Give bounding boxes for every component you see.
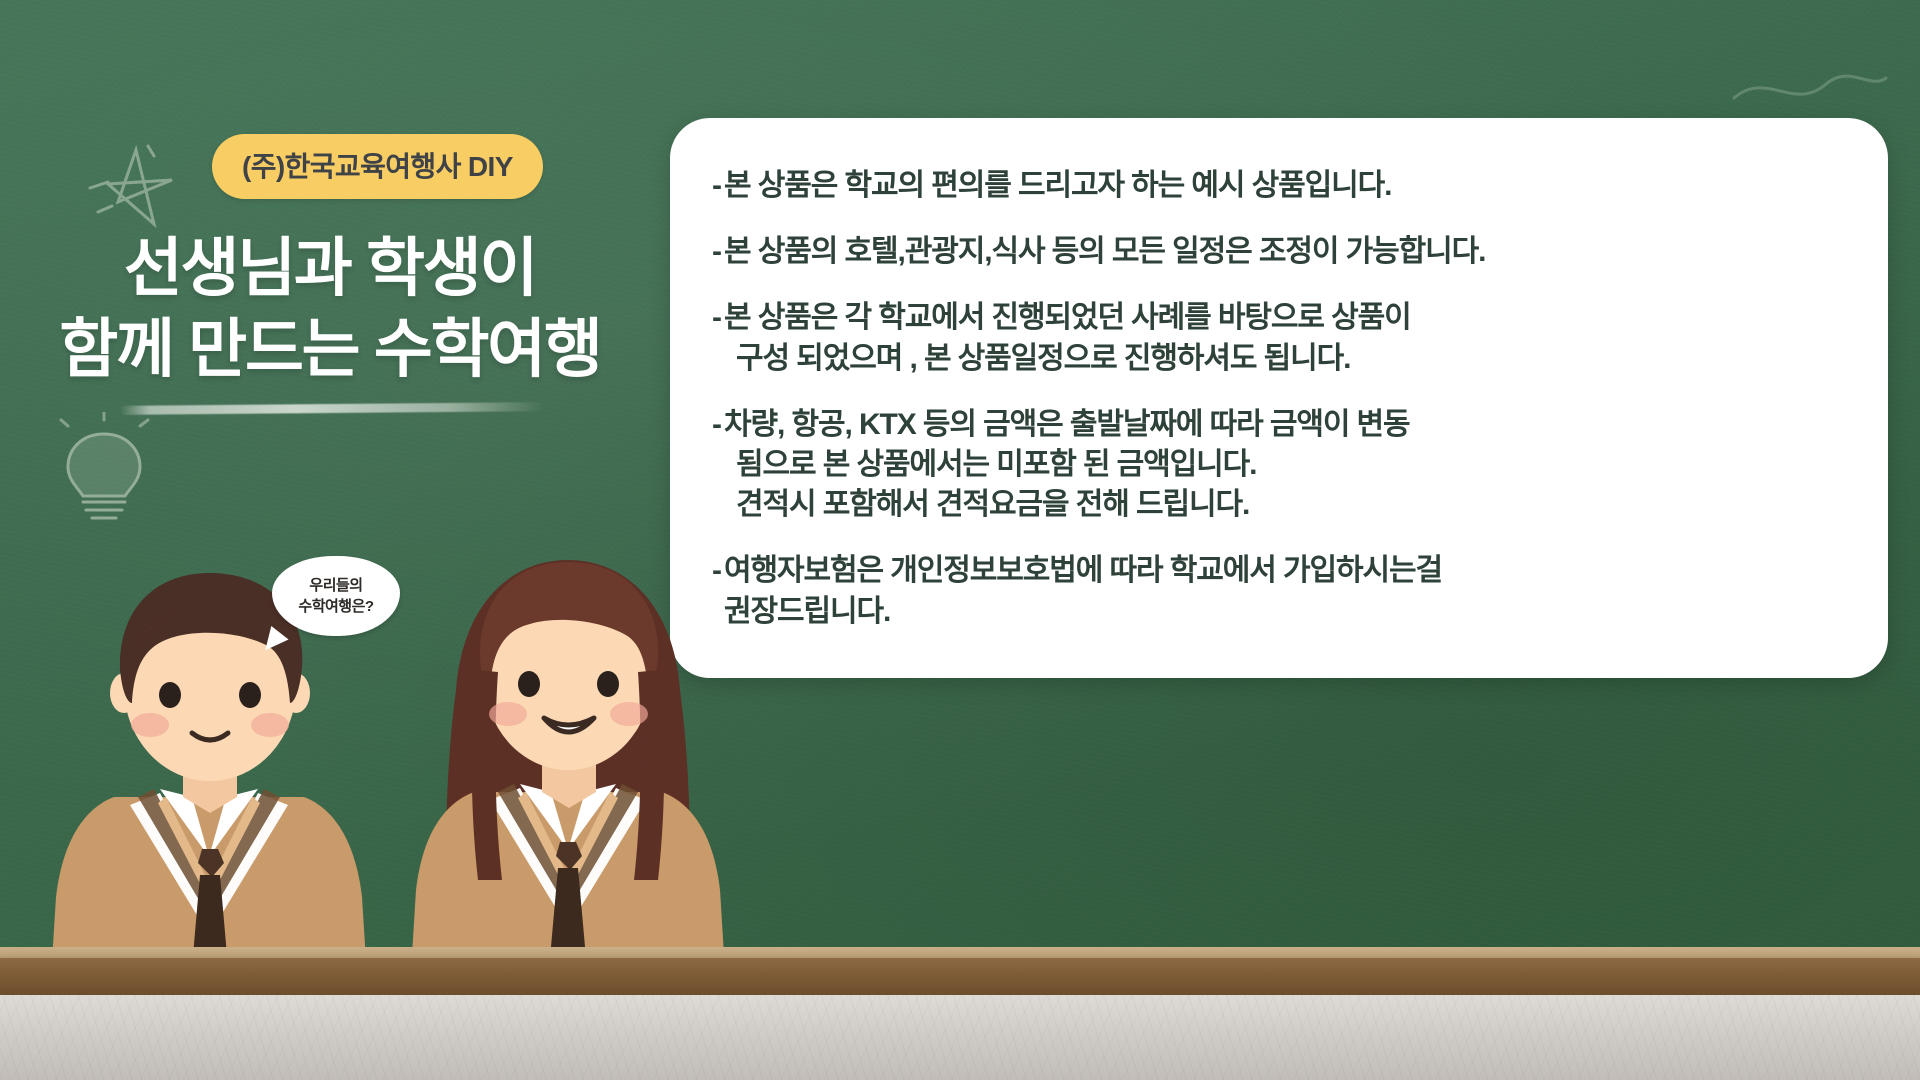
- note-marker: -: [712, 232, 722, 272]
- note-item: - 여행자보험은 개인정보보호법에 따라 학교에서 가입하시는걸 권장드립니다.: [712, 551, 1844, 631]
- speech-bubble-line-1: 우리들의: [309, 575, 362, 596]
- note-line: 구성 되었으며 , 본 상품일정으로 진행하셔도 됩니다.: [724, 339, 1844, 379]
- note-body: 차량, 항공, KTX 등의 금액은 출발날짜에 따라 금액이 변동 됨으로 본…: [724, 405, 1844, 526]
- note-item: - 본 상품은 각 학교에서 진행되었던 사례를 바탕으로 상품이 구성 되었으…: [712, 298, 1844, 378]
- note-body: 본 상품의 호텔,관광지,식사 등의 모든 일정은 조정이 가능합니다.: [724, 232, 1844, 272]
- speech-bubble: 우리들의 수학여행은?: [272, 556, 400, 636]
- note-line: 견적시 포함해서 견적요금을 전해 드립니다.: [724, 485, 1844, 525]
- page-title: 선생님과 학생이 함께 만드는 수학여행: [0, 228, 660, 389]
- note-marker: -: [712, 166, 722, 206]
- notes-card: - 본 상품은 학교의 편의를 드리고자 하는 예시 상품입니다. - 본 상품…: [670, 118, 1888, 678]
- note-body: 여행자보험은 개인정보보호법에 따라 학교에서 가입하시는걸 권장드립니다.: [724, 551, 1844, 631]
- note-item: - 본 상품의 호텔,관광지,식사 등의 모든 일정은 조정이 가능합니다.: [712, 232, 1844, 272]
- note-line: 차량, 항공, KTX 등의 금액은 출발날짜에 따라 금액이 변동: [724, 405, 1844, 445]
- note-line: 됨으로 본 상품에서는 미포함 된 금액입니다.: [724, 445, 1844, 485]
- note-item: - 본 상품은 학교의 편의를 드리고자 하는 예시 상품입니다.: [712, 166, 1844, 206]
- speech-bubble-line-2: 수학여행은?: [298, 596, 373, 617]
- note-line: 여행자보험은 개인정보보호법에 따라 학교에서 가입하시는걸: [724, 551, 1844, 591]
- classroom-floor: [0, 995, 1920, 1080]
- note-line: 본 상품은 각 학교에서 진행되었던 사례를 바탕으로 상품이: [724, 298, 1844, 338]
- note-line: 본 상품의 호텔,관광지,식사 등의 모든 일정은 조정이 가능합니다.: [724, 232, 1844, 272]
- note-body: 본 상품은 각 학교에서 진행되었던 사례를 바탕으로 상품이 구성 되었으며 …: [724, 298, 1844, 378]
- note-line: 본 상품은 학교의 편의를 드리고자 하는 예시 상품입니다.: [724, 166, 1844, 206]
- company-badge: (주)한국교육여행사 DIY: [212, 134, 543, 199]
- headline-line-2: 함께 만드는 수학여행: [0, 309, 660, 390]
- headline-line-1: 선생님과 학생이: [124, 232, 536, 304]
- note-body: 본 상품은 학교의 편의를 드리고자 하는 예시 상품입니다.: [724, 166, 1844, 206]
- chalk-smudge-icon: [1730, 60, 1890, 120]
- floor-texture: [0, 995, 1920, 1080]
- note-item: - 차량, 항공, KTX 등의 금액은 출발날짜에 따라 금액이 변동 됨으로…: [712, 405, 1844, 526]
- note-line: 권장드립니다.: [724, 592, 1844, 632]
- chalk-ledge: [0, 958, 1920, 996]
- note-marker: -: [712, 298, 722, 378]
